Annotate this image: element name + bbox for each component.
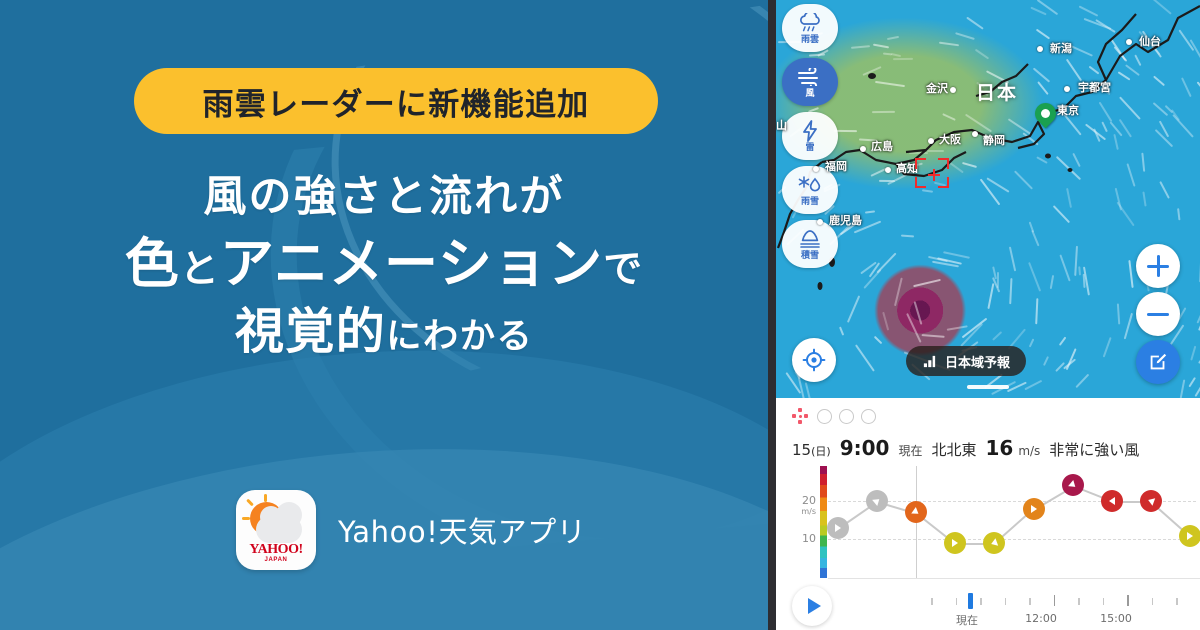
sheet-grabber[interactable] [967,385,1009,389]
chart-point[interactable] [1101,490,1123,512]
timeline-tick [931,598,933,605]
weather-radar-map[interactable]: 雨雲 風 雷 雨雪 積雪 仙台 新潟 宇都宮 金沢 東京 静岡 大阪 広島 高知… [776,0,1200,398]
chart-y-label: 20m/s [786,494,816,516]
wind-direction-arrow-icon [952,539,958,547]
chart-point[interactable] [1062,474,1084,496]
region-forecast-label: 日本域予報 [945,352,1010,371]
pin-dot [1041,109,1050,118]
wind-direction-arrow-icon [1147,496,1155,506]
wind-direction-arrow-icon [911,507,921,517]
headline-particle-de: で [603,247,643,292]
city-label: 金沢 [926,80,948,96]
map-layer-wind-icon[interactable]: 風 [782,58,838,106]
headline-emph-visual: 視覚的 [235,303,386,360]
chart-point[interactable] [983,532,1005,554]
page-dots[interactable] [817,409,876,424]
timeline-tick [1078,598,1080,605]
wind-direction-arrow-icon [1031,505,1037,513]
feature-badge: 雨雲レーダーに新機能追加 [134,68,658,134]
city-label: 山 [776,117,787,133]
rain-cloud-icon [797,11,823,35]
app-credit-row: YAHOO! JAPAN Yahoo!天気アプリ [236,490,586,570]
map-layer-switcher[interactable]: 雨雲 風 雷 雨雪 積雪 [782,4,838,268]
wind-speed-colorbar [820,466,827,578]
timeline-tick [1005,598,1007,605]
city-label: 宇都宮 [1078,79,1111,95]
map-layer-lightning-icon[interactable]: 雷 [782,112,838,160]
phone-screen: 雨雲 風 雷 雨雪 積雪 仙台 新潟 宇都宮 金沢 東京 静岡 大阪 広島 高知… [776,0,1200,630]
wind-info-row: 15(日) 9:00 現在 北北東 16 m/s 非常に強い風 [792,436,1139,460]
selection-crosshair [915,158,949,188]
wind-direction-arrow-icon [990,538,998,548]
feature-badge-label: 雨雲レーダーに新機能追加 [203,79,590,124]
city-dot [1064,86,1070,92]
info-wind-description: 非常に強い風 [1049,439,1139,460]
wind-direction-arrow-icon [1109,497,1115,505]
page-dot[interactable] [861,409,876,424]
timeline-tick [1103,598,1105,605]
city-label: 静岡 [983,132,1005,148]
crosshair-corner [915,177,926,188]
play-icon [808,598,821,614]
plus-icon [1147,255,1169,277]
wind-detail-sheet: 15(日) 9:00 現在 北北東 16 m/s 非常に強い風 1020m/s [776,398,1200,630]
city-dot [972,131,978,137]
page-dot[interactable] [839,409,854,424]
timeline-tick [980,598,982,605]
promo-banner: 雨雲レーダーに新機能追加 風の強さと流れが 色とアニメーションで 視覚的にわかる… [0,0,1200,630]
headline-emph-animation: アニメーション [220,232,603,295]
chart-point[interactable] [905,501,927,523]
city-dot [817,219,823,225]
yahoo-japan-logo: YAHOO! JAPAN [236,542,316,563]
yahoo-logo-main: YAHOO! [236,542,316,558]
map-layer-label: 雷 [805,143,814,154]
map-layer-label: 雨雲 [801,35,819,46]
info-wind-speed: 16 [985,436,1013,460]
wind-direction-arrow-icon [1068,480,1078,490]
lightning-icon [802,119,818,143]
city-dot [813,166,819,172]
chart-point[interactable] [1023,498,1045,520]
info-wind-direction: 北北東 [931,439,976,460]
city-label: 新潟 [1050,40,1072,56]
chart-baseline [828,578,1200,579]
playback-timeline[interactable]: 現在12:0015:00 [776,584,1200,630]
zoom-out-button[interactable] [1136,292,1180,336]
city-dot [950,87,956,93]
compose-icon [1147,351,1169,373]
country-label: 日本 [976,78,1018,105]
bar-chart-icon [922,354,937,369]
timeline-now-marker[interactable] [968,593,973,609]
wind-direction-arrow-icon [872,496,882,506]
compose-button[interactable] [1136,340,1180,384]
promo-content: 雨雲レーダーに新機能追加 風の強さと流れが 色とアニメーションで 視覚的にわかる… [0,0,768,630]
zoom-in-button[interactable] [1136,244,1180,288]
headline-line-1: 風の強さと流れが [0,176,768,219]
map-layer-label: 積雪 [801,251,819,262]
city-label: 鹿児島 [829,212,862,228]
info-now-label: 現在 [898,442,922,459]
sun-ray-icon [246,499,254,507]
map-layer-label: 雨雪 [801,197,819,208]
current-location-pin [1035,103,1056,130]
timeline-tick [956,598,958,605]
city-dot [928,138,934,144]
city-dot [1037,46,1043,52]
timeline-label: 現在 [956,612,978,628]
city-label: 大阪 [939,131,961,147]
headline-block: 風の強さと流れが 色とアニメーションで 視覚的にわかる [0,176,768,356]
new-feature-sparkle-icon [792,408,808,424]
timeline-tick [1127,595,1129,606]
play-button[interactable] [792,586,832,626]
timeline-tick [1029,598,1031,605]
map-layer-rain-cloud-icon[interactable]: 雨雲 [782,4,838,52]
city-label: 東京 [1057,102,1079,118]
chart-point[interactable] [1140,490,1162,512]
city-dot [885,167,891,173]
city-label: 福岡 [825,158,847,174]
yahoo-weather-app-icon: YAHOO! JAPAN [236,490,316,570]
city-dot [1126,39,1132,45]
headline-tail: にわかる [386,316,533,357]
info-date: 15(日) [792,441,831,459]
locate-me-button[interactable] [792,338,836,382]
city-dot [860,146,866,152]
wind-speed-chart[interactable]: 1020m/s [776,466,1200,584]
city-label: 仙台 [1139,33,1161,49]
chart-point[interactable] [827,517,849,539]
rain-snow-icon [797,173,823,197]
headline-line-3: 視覚的にわかる [0,307,768,356]
timeline-tick [1054,595,1056,606]
sheet-pagination[interactable] [776,398,1200,434]
minus-icon [1147,303,1169,325]
wind-direction-arrow-icon [1187,532,1193,540]
chart-gridline [828,539,1196,540]
region-forecast-button[interactable]: 日本域予報 [906,346,1026,376]
coastline-overlay [776,0,1200,398]
wind-direction-arrow-icon [835,524,841,532]
gps-locate-icon [802,348,826,372]
chart-point[interactable] [944,532,966,554]
timeline-label: 15:00 [1100,612,1132,625]
city-label: 広島 [871,138,893,154]
snow-depth-icon [798,227,822,251]
timeline-tick [1176,598,1178,605]
chart-point[interactable] [866,490,888,512]
sun-ray-icon [242,517,250,520]
wind-icon [797,65,824,89]
cloud-icon [256,516,302,543]
yahoo-logo-sub: JAPAN [236,557,316,563]
phone-mockup: 雨雲 風 雷 雨雪 積雪 仙台 新潟 宇都宮 金沢 東京 静岡 大阪 広島 高知… [768,0,1200,630]
crosshair-corner [938,158,949,169]
sun-ray-icon [264,494,267,502]
crosshair-center-icon [928,169,940,181]
map-layer-label: 風 [805,89,814,100]
timeline-tick [1152,598,1154,605]
headline-particle-to: と [180,247,220,292]
crosshair-corner [915,158,926,169]
info-wind-unit: m/s [1018,444,1040,458]
headline-emph-color: 色 [125,232,180,295]
chart-point[interactable] [1179,525,1200,547]
info-time: 9:00 [840,436,890,460]
app-name-label: Yahoo!天気アプリ [338,509,586,551]
chart-y-label: 10 [786,532,816,545]
headline-line-2: 色とアニメーションで [0,237,768,291]
page-dot[interactable] [817,409,832,424]
timeline-label: 12:00 [1025,612,1057,625]
